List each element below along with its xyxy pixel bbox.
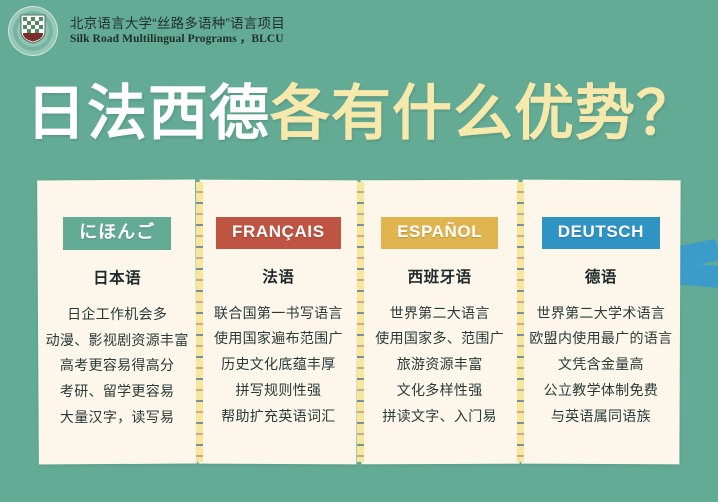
list-item: 动漫、影视剧资源丰富	[46, 332, 189, 349]
brand-header: 北京语言大学“丝路多语种”语言项目 Silk Road Multilingual…	[8, 6, 285, 56]
card-points-german: 世界第二大学术语言 欧盟内使用最广的语言 文凭含金量高 公立教学体制免费 与英语…	[529, 305, 672, 425]
card-divider-1	[196, 182, 203, 462]
language-card-japanese: にほんご 日本语 日企工作机会多 动漫、影视剧资源丰富 高考更容易得高分 考研、…	[38, 180, 196, 464]
list-item: 使用国家多、范围广	[375, 330, 504, 347]
list-item: 拼写规则性强	[235, 382, 321, 399]
card-points-japanese: 日企工作机会多 动漫、影视剧资源丰富 高考更容易得高分 考研、留学更容易 大量汉…	[46, 306, 189, 426]
page-title-question: 各有什么优势？	[270, 80, 697, 147]
list-item: 日企工作机会多	[67, 306, 167, 323]
card-badge-japanese: にほんご	[63, 217, 171, 250]
brand-title-en: Silk Road Multilingual Programs ，BLCU	[70, 32, 285, 47]
list-item: 帮助扩充英语词汇	[221, 408, 335, 425]
list-item: 拼读文字、入门易	[382, 408, 496, 425]
list-item: 历史文化底蕴丰厚	[221, 356, 335, 373]
language-card-spanish: ESPAÑOL 西班牙语 世界第二大语言 使用国家多、范围广 旅游资源丰富 文化…	[361, 180, 519, 464]
list-item: 旅游资源丰富	[397, 356, 483, 373]
card-name-german: 德语	[585, 265, 617, 287]
list-item: 文化多样性强	[397, 382, 483, 399]
brand-title-cn: 北京语言大学“丝路多语种”语言项目	[70, 15, 285, 32]
list-item: 世界第二大学术语言	[537, 305, 666, 322]
language-card-german: DEUTSCH 德语 世界第二大学术语言 欧盟内使用最广的语言 文凭含金量高 公…	[522, 180, 680, 464]
card-points-spanish: 世界第二大语言 使用国家多、范围广 旅游资源丰富 文化多样性强 拼读文字、入门易	[375, 305, 504, 425]
card-name-french: 法语	[262, 265, 294, 287]
blcu-shield-emblem-icon	[8, 6, 58, 56]
poster-canvas: 北京语言大学“丝路多语种”语言项目 Silk Road Multilingual…	[0, 0, 718, 502]
card-name-spanish: 西班牙语	[408, 265, 472, 287]
card-badge-german: DEUTSCH	[542, 217, 660, 249]
brand-text-block: 北京语言大学“丝路多语种”语言项目 Silk Road Multilingual…	[70, 15, 285, 47]
list-item: 考研、留学更容易	[60, 383, 174, 400]
list-item: 高考更容易得高分	[60, 357, 174, 374]
language-card-french: FRANÇAIS 法语 联合国第一书写语言 使用国家遍布范围广 历史文化底蕴丰厚…	[199, 180, 357, 464]
card-points-french: 联合国第一书写语言 使用国家遍布范围广 历史文化底蕴丰厚 拼写规则性强 帮助扩充…	[214, 305, 343, 425]
list-item: 文凭含金量高	[558, 356, 644, 373]
list-item: 与英语属同语族	[551, 408, 651, 425]
list-item: 世界第二大语言	[390, 305, 490, 322]
card-name-japanese: 日本语	[93, 266, 141, 288]
list-item: 使用国家遍布范围广	[214, 330, 343, 347]
list-item: 联合国第一书写语言	[214, 305, 343, 322]
card-badge-french: FRANÇAIS	[216, 217, 341, 249]
card-divider-2	[357, 182, 364, 462]
list-item: 欧盟内使用最广的语言	[529, 330, 672, 347]
list-item: 公立教学体制免费	[544, 382, 658, 399]
card-badge-spanish: ESPAÑOL	[381, 217, 498, 249]
page-title-languages: 日法西德	[26, 80, 270, 147]
card-divider-3	[517, 182, 524, 462]
page-title: 日法西德各有什么优势？	[26, 84, 697, 144]
list-item: 大量汉字，读写易	[60, 409, 174, 426]
